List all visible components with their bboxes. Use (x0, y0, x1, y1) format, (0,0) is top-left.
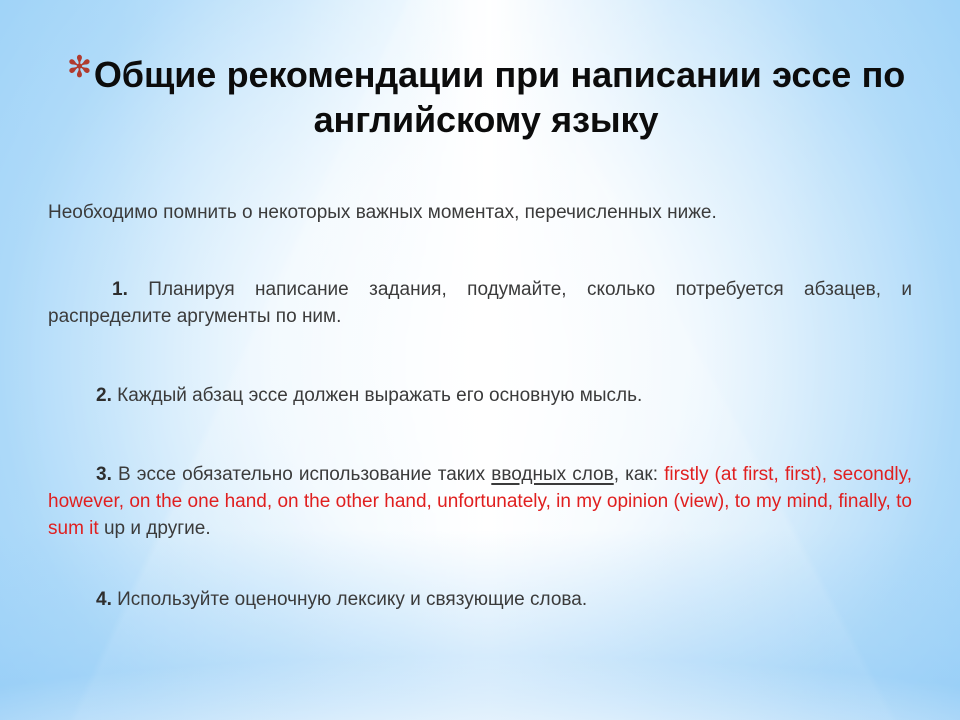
intro-paragraph: Необходимо помнить о некоторых важных мо… (48, 200, 912, 227)
list-item-2-text: Каждый абзац эссе должен выражать его ос… (117, 385, 642, 406)
list-item-2-number: 2. (96, 385, 112, 406)
list-item-2: 2. Каждый абзац эссе должен выражать его… (48, 383, 912, 410)
title-line-1: Общие рекомендации при написании эссе (94, 54, 851, 95)
list-item-4-number: 4. (96, 589, 112, 610)
asterisk-bullet-icon: ✻ (67, 53, 92, 83)
spacer-after-item-2 (48, 410, 912, 462)
list-item-4: 4. Используйте оценочную лексику и связу… (48, 587, 912, 614)
slide-canvas: ✻Общие рекомендации при написании эссе п… (0, 0, 960, 720)
slide-title: ✻Общие рекомендации при написании эссе п… (40, 52, 932, 143)
list-item-1: 1. Планируя написание задания, подумайте… (48, 277, 912, 331)
slide-content: ✻Общие рекомендации при написании эссе п… (0, 0, 960, 720)
list-item-3: 3. В эссе обязательно использование таки… (48, 462, 912, 543)
list-item-1-text: Планируя написание задания, подумайте, с… (48, 279, 912, 327)
list-item-3-tail: up и другие. (99, 518, 211, 539)
list-item-3-lead: В эссе обязательно использование таких (118, 464, 491, 485)
spacer-after-item-1 (48, 331, 912, 383)
list-item-3-underlined-term: вводных слов (491, 464, 613, 485)
spacer-after-item-3 (48, 543, 912, 587)
slide-body: Необходимо помнить о некоторых важных мо… (48, 200, 912, 614)
list-item-3-number: 3. (96, 464, 112, 485)
list-item-1-number: 1. (112, 279, 128, 300)
spacer-after-intro (48, 227, 912, 277)
list-item-4-text: Используйте оценочную лексику и связующи… (117, 589, 587, 610)
list-item-3-mid: , как: (614, 464, 664, 485)
page-title: ✻Общие рекомендации при написании эссе п… (40, 52, 932, 143)
